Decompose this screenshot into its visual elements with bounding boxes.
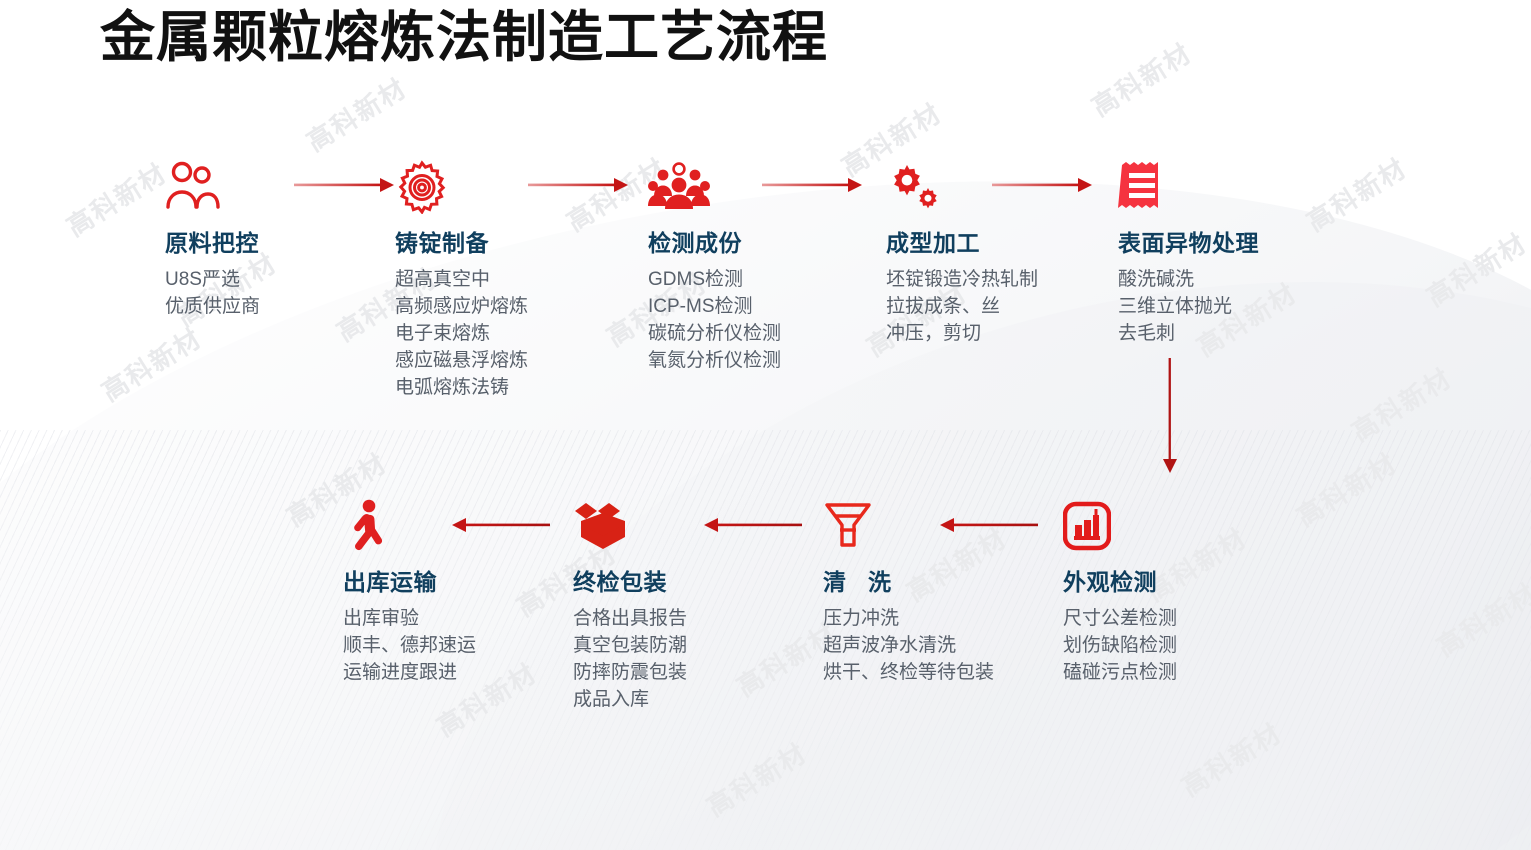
step-detail-line: 碳硫分析仪检测 <box>648 320 898 347</box>
step-title: 检测成份 <box>648 228 898 258</box>
step-detail-line: 去毛刺 <box>1118 320 1368 347</box>
step-detail-line: GDMS检测 <box>648 266 898 293</box>
step-detail-line: 烘干、终检等待包装 <box>823 659 1073 686</box>
people-pair-icon <box>165 161 221 213</box>
background-decoration <box>0 0 1531 850</box>
step-title: 表面异物处理 <box>1118 228 1368 258</box>
arrow-right-3 <box>762 178 862 192</box>
step-detail-line: 尺寸公差检测 <box>1063 605 1313 632</box>
watermark-text: 高科新材 <box>1344 358 1459 449</box>
step-detail-line: 感应磁悬浮熔炼 <box>395 347 645 374</box>
page-title: 金属颗粒熔炼法制造工艺流程 <box>100 2 828 72</box>
step-detail-line: 冲压，剪切 <box>886 320 1136 347</box>
step-detail-line: 压力冲洗 <box>823 605 1073 632</box>
arrow-down-1 <box>1163 358 1177 473</box>
step-title: 清洗 <box>823 567 1073 597</box>
step-detail-line: 出库审验 <box>343 605 593 632</box>
step-detail-line: 防摔防震包装 <box>573 659 823 686</box>
arrow-right-4 <box>992 178 1092 192</box>
step-detail-line: 顺丰、德邦速运 <box>343 632 593 659</box>
arrow-left-2 <box>704 518 804 532</box>
step-detail-line: 三维立体抛光 <box>1118 293 1368 320</box>
step-detail-list: 酸洗碱洗三维立体抛光去毛刺 <box>1118 266 1368 347</box>
step-detail-list: U8S严选优质供应商 <box>165 266 415 320</box>
people-group-icon <box>648 162 710 212</box>
step-detail-line: 优质供应商 <box>165 293 415 320</box>
factory-badge-icon <box>1063 501 1111 551</box>
arrow-right-2 <box>528 178 628 192</box>
step-detail-line: 真空包装防潮 <box>573 632 823 659</box>
slide-canvas: 高科新材高科新材高科新材高科新材高科新材高科新材高科新材高科新材高科新材高科新材… <box>0 0 1531 850</box>
step-detail-line: ICP-MS检测 <box>648 293 898 320</box>
step-detail-line: 拉拔成条、丝 <box>886 293 1136 320</box>
step-title: 终检包装 <box>573 567 823 597</box>
process-step-ingot-preparation[interactable]: 铸锭制备超高真空中高频感应炉熔炼电子束熔炼感应磁悬浮熔炼电弧熔炼法铸 <box>395 158 645 401</box>
step-detail-line: 超高真空中 <box>395 266 645 293</box>
step-detail-line: 电子束熔炼 <box>395 320 645 347</box>
step-detail-list: GDMS检测ICP-MS检测碳硫分析仪检测氧氮分析仪检测 <box>648 266 898 374</box>
watermark-text: 高科新材 <box>1084 33 1199 124</box>
step-detail-list: 压力冲洗超声波净水清洗烘干、终检等待包装 <box>823 605 1073 686</box>
step-detail-line: 高频感应炉熔炼 <box>395 293 645 320</box>
step-title: 原料把控 <box>165 228 415 258</box>
watermark-text: 高科新材 <box>59 153 174 244</box>
watermark-text: 高科新材 <box>299 68 414 159</box>
step-detail-line: 划伤缺陷检测 <box>1063 632 1313 659</box>
arrow-left-3 <box>452 518 552 532</box>
step-title: 外观检测 <box>1063 567 1313 597</box>
open-box-icon <box>573 501 633 551</box>
step-detail-line: 电弧熔炼法铸 <box>395 374 645 401</box>
watermark-text: 高科新材 <box>1419 223 1531 314</box>
step-detail-list: 合格出具报告真空包装防潮防摔防震包装成品入库 <box>573 605 823 713</box>
step-detail-line: 氧氮分析仪检测 <box>648 347 898 374</box>
arrow-left-1 <box>940 518 1040 532</box>
step-detail-line: 运输进度跟进 <box>343 659 593 686</box>
step-detail-line: 成品入库 <box>573 686 823 713</box>
gear-concentric-icon <box>395 160 449 214</box>
step-title: 铸锭制备 <box>395 228 645 258</box>
step-detail-line: 超声波净水清洗 <box>823 632 1073 659</box>
step-detail-line: 酸洗碱洗 <box>1118 266 1368 293</box>
step-icon-factory-badge-icon <box>1063 497 1313 555</box>
walking-person-icon <box>343 499 391 553</box>
double-gear-icon <box>886 162 942 212</box>
watermark-text: 高科新材 <box>1429 573 1531 664</box>
funnel-icon <box>823 500 873 552</box>
step-detail-line: 磕碰污点检测 <box>1063 659 1313 686</box>
step-detail-list: 尺寸公差检测划伤缺陷检测磕碰污点检测 <box>1063 605 1313 686</box>
arrow-right-1 <box>294 178 394 192</box>
step-icon-receipt-icon <box>1118 158 1368 216</box>
process-step-surface-treatment[interactable]: 表面异物处理酸洗碱洗三维立体抛光去毛刺 <box>1118 158 1368 347</box>
step-detail-list: 出库审验顺丰、德邦速运运输进度跟进 <box>343 605 593 686</box>
watermark-text: 高科新材 <box>699 733 814 824</box>
step-title: 成型加工 <box>886 228 1136 258</box>
step-detail-list: 超高真空中高频感应炉熔炼电子束熔炼感应磁悬浮熔炼电弧熔炼法铸 <box>395 266 645 401</box>
watermark-text: 高科新材 <box>94 318 209 409</box>
step-title: 出库运输 <box>343 567 593 597</box>
step-detail-line: U8S严选 <box>165 266 415 293</box>
step-detail-list: 坯锭锻造冷热轧制拉拔成条、丝冲压，剪切 <box>886 266 1136 347</box>
step-detail-line: 坯锭锻造冷热轧制 <box>886 266 1136 293</box>
receipt-icon <box>1118 159 1166 215</box>
step-detail-line: 合格出具报告 <box>573 605 823 632</box>
watermark-text: 高科新材 <box>1174 713 1289 804</box>
process-step-appearance-inspection[interactable]: 外观检测尺寸公差检测划伤缺陷检测磕碰污点检测 <box>1063 497 1313 686</box>
